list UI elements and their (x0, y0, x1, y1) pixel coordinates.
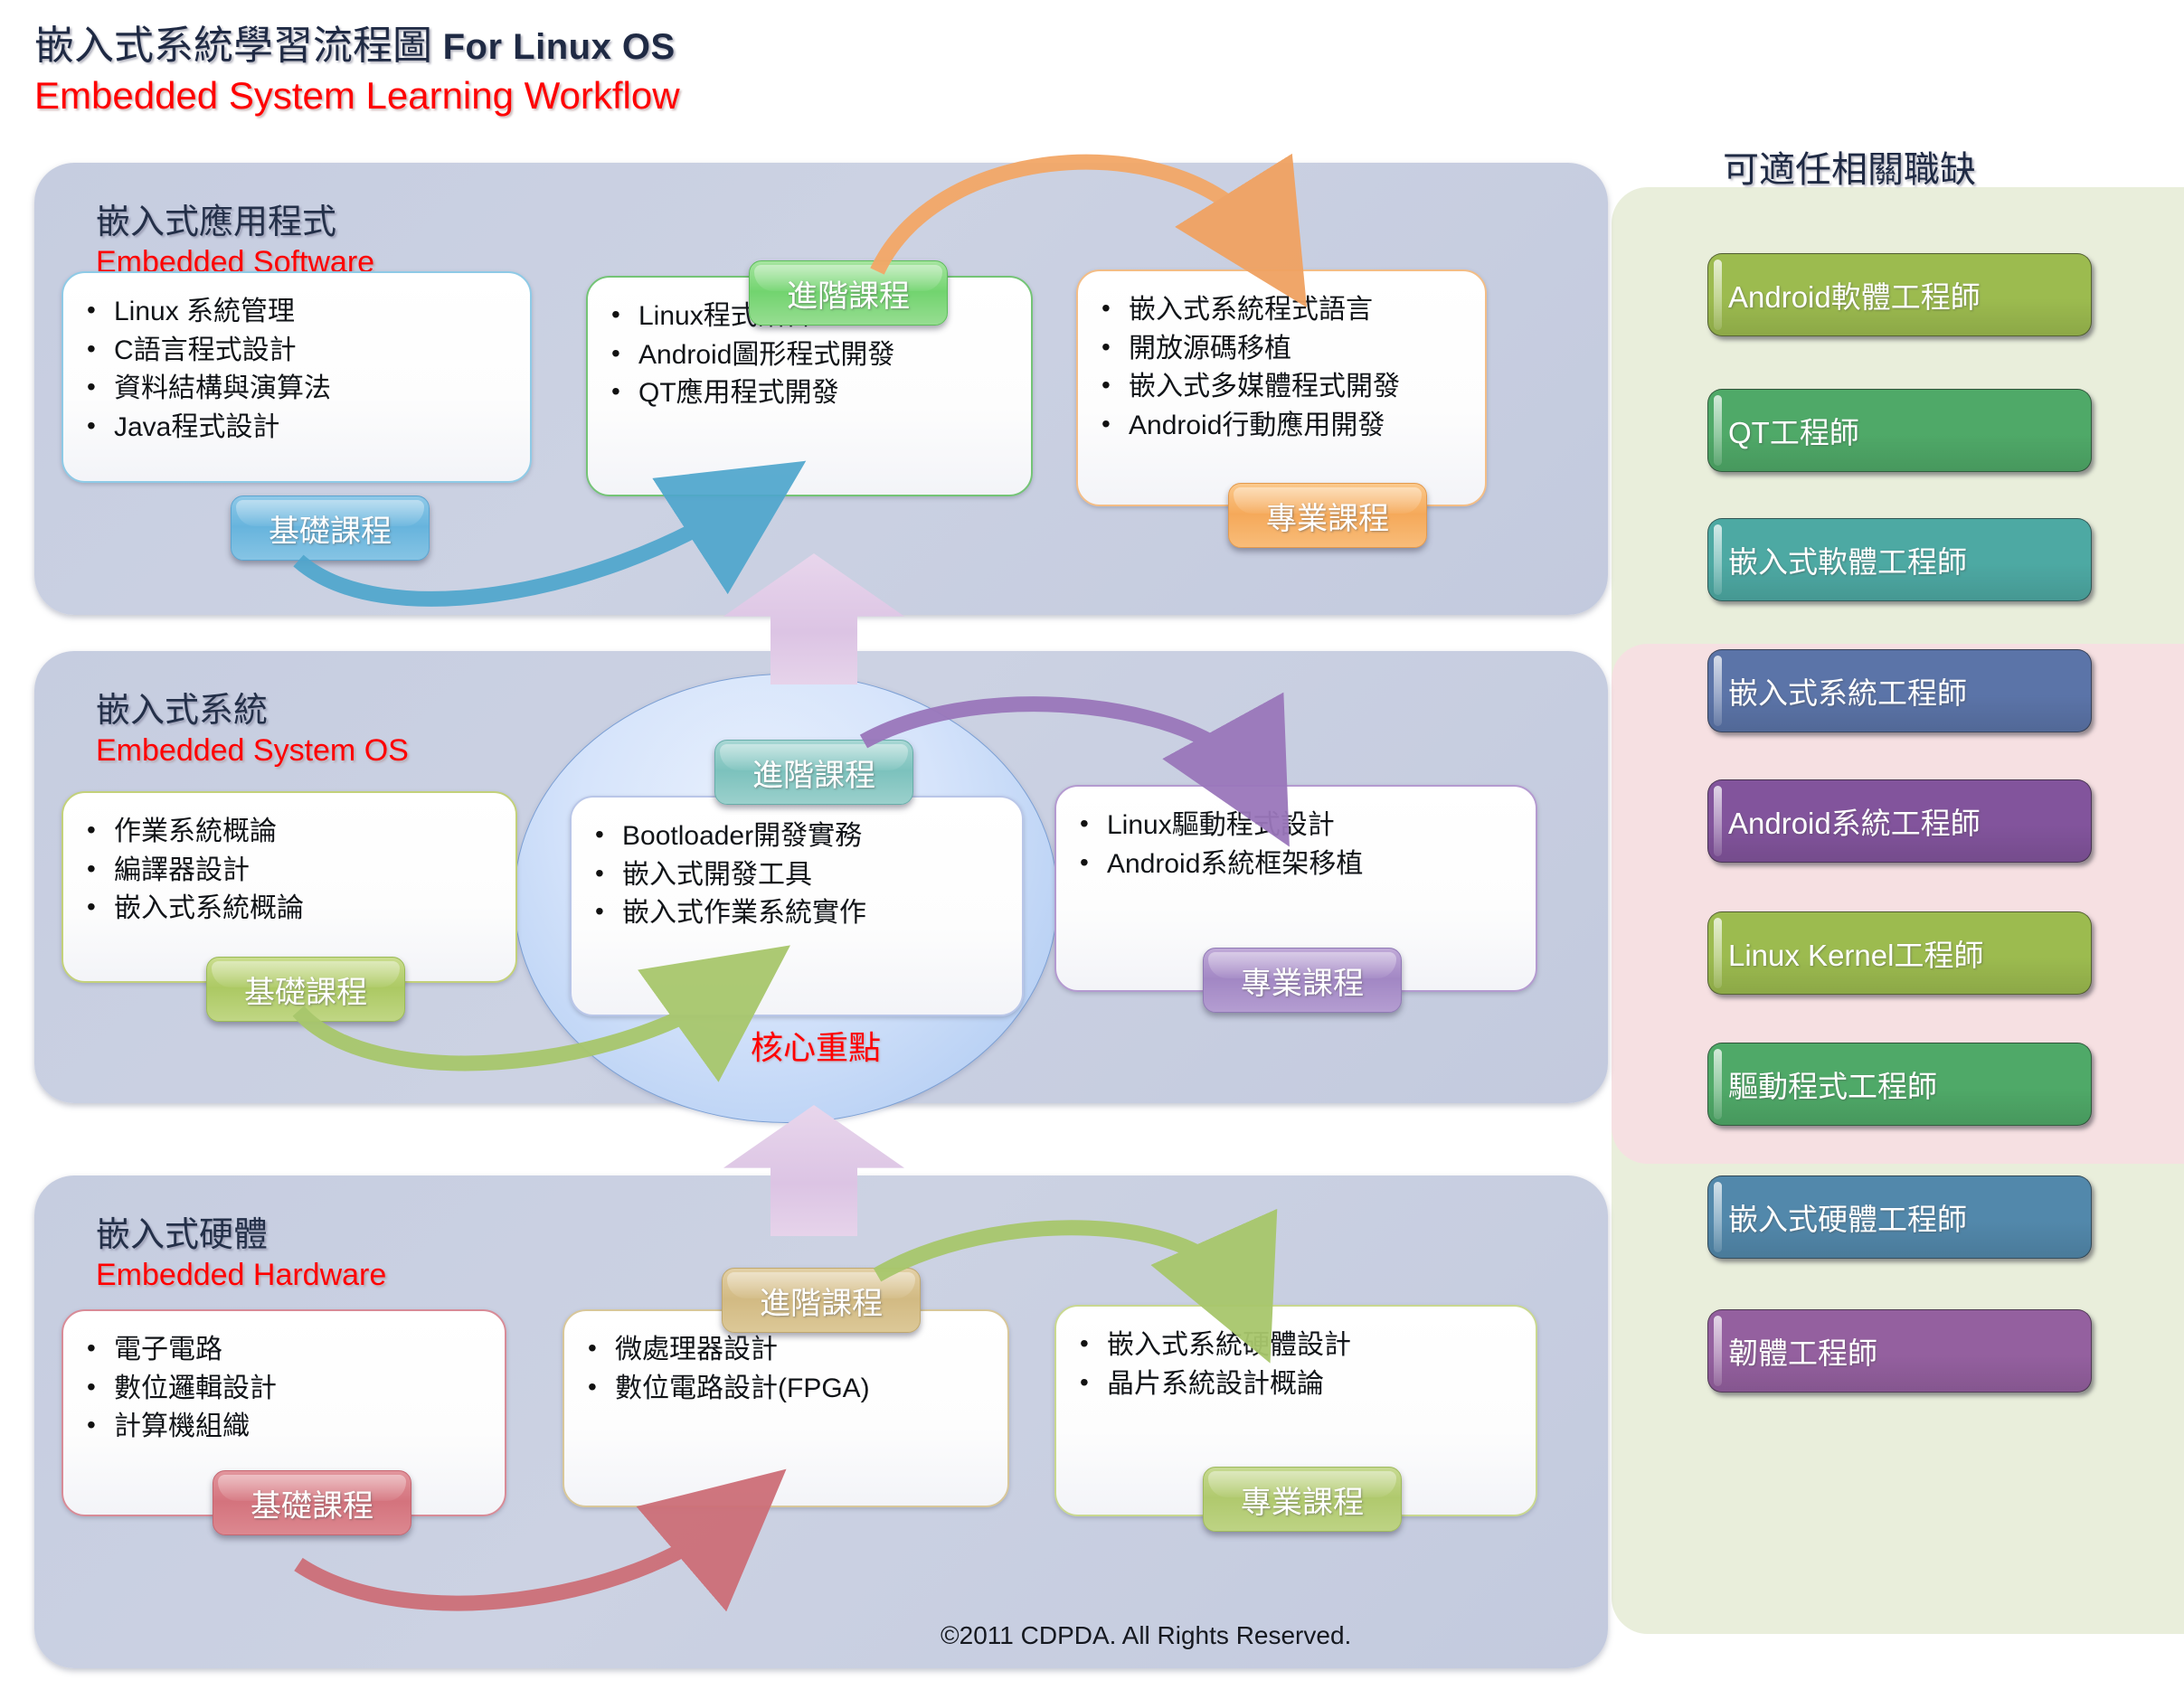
badge-basic-course-os[interactable]: 基礎課程 (206, 957, 405, 1022)
badge-basic-course-hardware[interactable]: 基礎課程 (213, 1470, 411, 1535)
job-badge-embedded-system-engineer[interactable]: 嵌入式系統工程師 (1707, 649, 2092, 732)
list-item: 數位邏輯設計 (114, 1370, 487, 1409)
list-item: 開放源碼移植 (1129, 330, 1467, 369)
section-title-en: Embedded System OS (96, 733, 409, 769)
badge-basic-course-software[interactable]: 基礎課程 (231, 496, 430, 561)
section-title-en: Embedded Hardware (96, 1258, 386, 1293)
badge-advanced-course-hardware[interactable]: 進階課程 (722, 1268, 921, 1333)
list-item: C語言程式設計 (114, 332, 512, 371)
job-badge-qt-engineer[interactable]: QT工程師 (1707, 389, 2092, 472)
list-item: 電子電路 (114, 1331, 487, 1370)
section-title-zh: 嵌入式應用程式 (96, 194, 374, 243)
course-box-software-basic[interactable]: Linux 系統管理 C語言程式設計 資料結構與演算法 Java程式設計 (61, 271, 532, 483)
course-box-hardware-advanced[interactable]: 微處理器設計 數位電路設計(FPGA) (563, 1309, 1009, 1507)
list-item: Java程式設計 (114, 409, 512, 448)
list-item: Linux 系統管理 (114, 293, 512, 332)
list-item: 計算機組織 (114, 1408, 487, 1447)
core-focus-label: 核心重點 (751, 1022, 881, 1069)
list-item: 嵌入式系統硬體設計 (1107, 1327, 1517, 1365)
section-header-hardware: 嵌入式硬體 Embedded Hardware (96, 1206, 386, 1293)
list-item: Android圖形程式開發 (638, 336, 1013, 375)
job-badge-embedded-hardware-engineer[interactable]: 嵌入式硬體工程師 (1707, 1175, 2092, 1259)
list-item: 嵌入式多媒體程式開發 (1129, 368, 1467, 407)
job-badge-linux-kernel-engineer[interactable]: Linux Kernel工程師 (1707, 911, 2092, 995)
list-item: Linux驅動程式設計 (1107, 807, 1517, 845)
job-badge-android-system-engineer[interactable]: Android系統工程師 (1707, 779, 2092, 863)
list-item: 嵌入式系統程式語言 (1129, 291, 1467, 330)
list-item: Bootloader開發實務 (622, 817, 1004, 856)
course-box-os-basic[interactable]: 作業系統概論 編譯器設計 嵌入式系統概論 (61, 791, 517, 983)
title-en-suffix: For Linux OS (432, 27, 676, 67)
badge-professional-course-os[interactable]: 專業課程 (1203, 948, 1402, 1013)
section-title-zh: 嵌入式硬體 (96, 1206, 386, 1256)
copyright-footer: ©2011 CDPDA. All Rights Reserved. (941, 1621, 1351, 1650)
badge-professional-course-hardware[interactable]: 專業課程 (1203, 1467, 1402, 1532)
list-item: 嵌入式作業系統實作 (622, 894, 1004, 933)
list-item: Android系統框架移植 (1107, 845, 1517, 884)
title-subtitle-en: Embedded System Learning Workflow (34, 74, 680, 118)
badge-professional-course-software[interactable]: 專業課程 (1228, 483, 1427, 548)
course-box-os-advanced[interactable]: Bootloader開發實務 嵌入式開發工具 嵌入式作業系統實作 (570, 796, 1024, 1016)
jobs-panel-title: 可適任相關職缺 (1723, 140, 1976, 193)
list-item: 資料結構與演算法 (114, 370, 512, 409)
list-item: 嵌入式系統概論 (114, 890, 497, 929)
job-badge-driver-engineer[interactable]: 驅動程式工程師 (1707, 1043, 2092, 1126)
course-box-software-professional[interactable]: 嵌入式系統程式語言 開放源碼移植 嵌入式多媒體程式開發 Android行動應用開… (1076, 269, 1487, 506)
list-item: Android行動應用開發 (1129, 407, 1467, 446)
list-item: QT應用程式開發 (638, 374, 1013, 413)
list-item: 晶片系統設計概論 (1107, 1365, 1517, 1404)
section-title-zh: 嵌入式系統 (96, 682, 409, 732)
section-header-software: 嵌入式應用程式 Embedded Software (96, 194, 374, 280)
list-item: 作業系統概論 (114, 813, 497, 852)
badge-advanced-course-os[interactable]: 進階課程 (714, 740, 913, 805)
title-primary: 嵌入式系統學習流程圖 For Linux OS (34, 13, 680, 71)
job-badge-firmware-engineer[interactable]: 韌體工程師 (1707, 1309, 2092, 1393)
badge-advanced-course-software[interactable]: 進階課程 (749, 260, 948, 326)
job-badge-android-software-engineer[interactable]: Android軟體工程師 (1707, 253, 2092, 336)
list-item: 微處理器設計 (615, 1331, 989, 1370)
title-zh: 嵌入式系統學習流程圖 (34, 24, 432, 68)
page-title: 嵌入式系統學習流程圖 For Linux OS Embedded System … (34, 13, 680, 118)
list-item: 編譯器設計 (114, 852, 497, 891)
list-item: 嵌入式開發工具 (622, 856, 1004, 895)
list-item: 數位電路設計(FPGA) (615, 1370, 989, 1409)
job-badge-embedded-software-engineer[interactable]: 嵌入式軟體工程師 (1707, 518, 2092, 601)
section-header-system-os: 嵌入式系統 Embedded System OS (96, 682, 409, 769)
